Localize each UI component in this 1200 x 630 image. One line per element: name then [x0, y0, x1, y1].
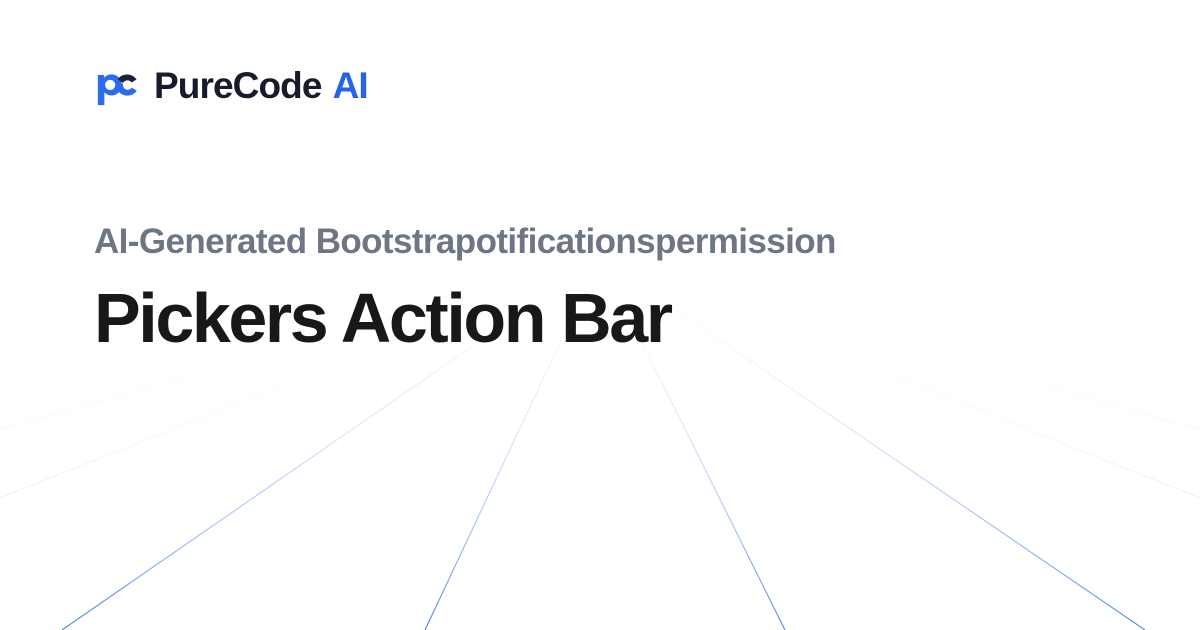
- hero-text-block: AI-Generated Bootstrapotificationspermis…: [94, 222, 1134, 356]
- og-share-card: PureCode AI AI-Generated Bootstrapotific…: [0, 0, 1200, 630]
- purecode-pc-monogram-icon: [94, 62, 140, 108]
- brand-name: PureCode: [154, 67, 322, 104]
- brand-wordmark: PureCode AI: [154, 67, 368, 104]
- hero-eyebrow: AI-Generated Bootstrapotificationspermis…: [94, 222, 1134, 263]
- brand-lockup[interactable]: PureCode AI: [94, 62, 368, 108]
- brand-suffix: AI: [333, 67, 368, 104]
- page-title: Pickers Action Bar: [94, 281, 1134, 357]
